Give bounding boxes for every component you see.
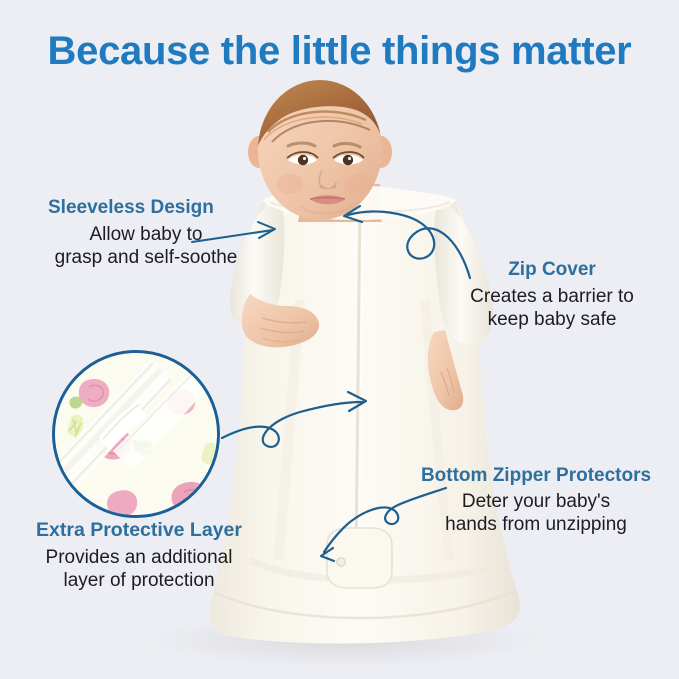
callout-zip-cover: Zip Cover Creates a barrier to keep baby… (430, 258, 674, 331)
infographic-page: Because the little things matter (0, 0, 679, 679)
callout-bottom-zipper-protectors: Bottom Zipper Protectors Deter your baby… (398, 464, 674, 536)
arrow-extra-layer (222, 392, 366, 447)
inset-leader-line (222, 424, 262, 438)
callout-sleeveless-design: Sleeveless Design Allow baby to grasp an… (26, 196, 266, 269)
callout-extra-protective-layer: Extra Protective Layer Provides an addit… (8, 518, 270, 592)
callout-heading: Bottom Zipper Protectors (398, 464, 674, 488)
callout-heading: Extra Protective Layer (8, 518, 270, 542)
callout-body: Creates a barrier to keep baby safe (430, 285, 674, 331)
callout-body: Deter your baby's hands from unzipping (398, 490, 674, 536)
callout-heading: Sleeveless Design (26, 196, 266, 220)
callout-body: Provides an additional layer of protecti… (8, 546, 270, 592)
callout-heading: Zip Cover (430, 258, 674, 282)
callout-body: Allow baby to grasp and self-soothe (26, 223, 266, 269)
